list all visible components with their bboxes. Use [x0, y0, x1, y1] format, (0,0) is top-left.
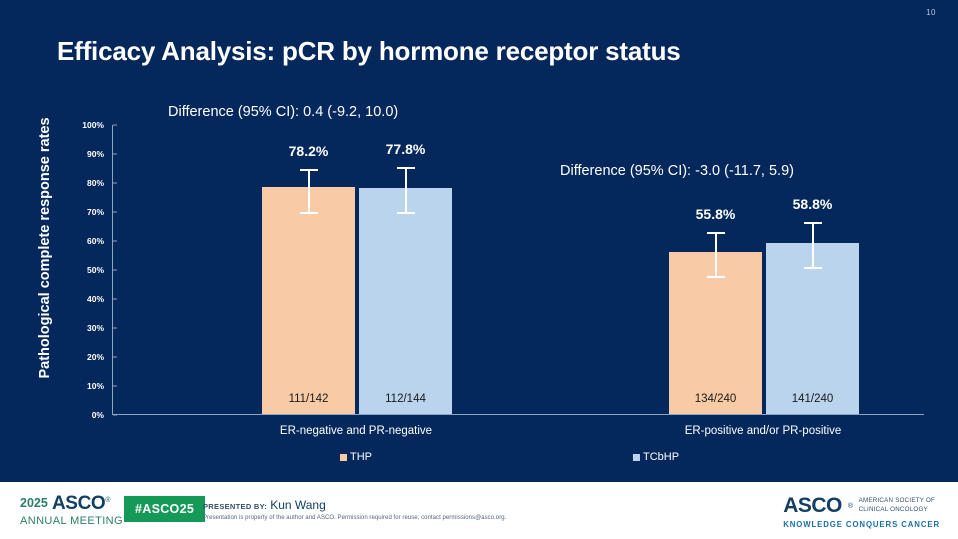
legend-item-thp[interactable]: THP: [340, 451, 372, 463]
y-axis-tick-mark: [113, 241, 117, 242]
y-axis-tick-mark: [113, 299, 117, 300]
bar-denominator-label: 134/240: [669, 393, 762, 405]
y-axis-tick-label: 50%: [54, 265, 113, 275]
error-bar: [308, 169, 310, 213]
legend-label: THP: [350, 451, 372, 463]
meeting-year: 2025: [20, 496, 48, 510]
bar-chart: Pathological complete response rates 0%1…: [0, 95, 958, 480]
y-axis-tick-label: 100%: [54, 120, 113, 130]
error-bar-cap-lower: [707, 276, 725, 278]
bar-value-label: 78.2%: [289, 143, 329, 159]
y-axis-tick-mark: [113, 212, 117, 213]
category-label-1: ER-negative and PR-negative: [280, 425, 432, 437]
y-axis-tick-mark: [113, 154, 117, 155]
hashtag-badge: #ASCO25: [124, 496, 205, 522]
bar-tcbhp-group1[interactable]: 112/144: [359, 188, 452, 414]
y-axis-tick-label: 60%: [54, 236, 113, 246]
legend-swatch-tcbhp: [633, 454, 640, 461]
y-axis-tick-label: 80%: [54, 178, 113, 188]
legend-swatch-thp: [340, 454, 347, 461]
slide-number: 10: [926, 8, 936, 17]
error-bar: [715, 232, 717, 276]
page-title: Efficacy Analysis: pCR by hormone recept…: [57, 36, 681, 67]
y-axis-tick-label: 20%: [54, 352, 113, 362]
y-axis-tick-label: 70%: [54, 207, 113, 217]
category-label-2: ER-positive and/or PR-positive: [685, 425, 842, 437]
y-axis-tick-mark: [113, 415, 117, 416]
asco-right-wordmark: ASCO: [783, 494, 842, 518]
y-axis-title: Pathological complete response rates: [37, 83, 53, 413]
presented-by-label: PRESENTED BY:: [203, 502, 267, 511]
error-bar-cap-lower: [300, 212, 318, 214]
legend-item-tcbhp[interactable]: TCbHP: [633, 451, 679, 463]
error-bar: [812, 222, 814, 267]
y-axis-tick-mark: [113, 183, 117, 184]
y-axis-tick-mark: [113, 357, 117, 358]
copyright-fineprint: Presentation is property of the author a…: [203, 515, 506, 521]
error-bar-cap-upper: [804, 222, 822, 224]
bar-value-label: 58.8%: [793, 196, 833, 212]
y-axis-tick-mark: [113, 328, 117, 329]
society-line-1: AMERICAN SOCIETY OF: [859, 497, 936, 504]
bar-value-label: 55.8%: [696, 206, 736, 222]
y-axis-tick-label: 90%: [54, 149, 113, 159]
error-bar-cap-lower: [804, 267, 822, 269]
legend-label: TCbHP: [643, 451, 679, 463]
bar-denominator-label: 141/240: [766, 393, 859, 405]
plot-area: 0%10%20%30%40%50%60%70%80%90%100%111/142…: [112, 125, 924, 415]
y-axis-tick-mark: [113, 125, 117, 126]
y-axis-tick-label: 30%: [54, 323, 113, 333]
bar-value-label: 77.8%: [386, 141, 426, 157]
error-bar-cap-upper: [707, 232, 725, 234]
error-bar-cap-lower: [397, 212, 415, 214]
registered-mark-right: ®: [848, 503, 853, 510]
y-axis-tick-label: 40%: [54, 294, 113, 304]
asco-tagline: KNOWLEDGE CONQUERS CANCER: [783, 520, 940, 529]
presented-by: PRESENTED BY:Kun Wang: [203, 496, 326, 514]
asco-annual-meeting-logo: 2025 ASCO® ANNUAL MEETING: [20, 494, 123, 527]
slide: 10 Efficacy Analysis: pCR by hormone rec…: [0, 0, 958, 539]
registered-mark: ®: [105, 497, 110, 504]
bar-thp-group1[interactable]: 111/142: [262, 187, 355, 414]
meeting-subtitle: ANNUAL MEETING: [20, 516, 123, 527]
error-bar-cap-upper: [300, 169, 318, 171]
y-axis-tick-label: 0%: [54, 410, 113, 420]
difference-annotation-1: Difference (95% CI): 0.4 (-9.2, 10.0): [168, 104, 398, 120]
presenter-name: Kun Wang: [270, 498, 326, 512]
y-axis-tick-mark: [113, 386, 117, 387]
asco-society-name: AMERICAN SOCIETY OF CLINICAL ONCOLOGY: [859, 497, 936, 515]
asco-logo: ASCO® AMERICAN SOCIETY OF CLINICAL ONCOL…: [783, 494, 940, 529]
y-axis-tick-label: 10%: [54, 381, 113, 391]
bar-denominator-label: 112/144: [359, 393, 452, 405]
difference-annotation-2: Difference (95% CI): -3.0 (-11.7, 5.9): [560, 163, 794, 179]
society-line-2: CLINICAL ONCOLOGY: [859, 506, 928, 513]
y-axis-tick-mark: [113, 270, 117, 271]
bar-denominator-label: 111/142: [262, 393, 355, 405]
error-bar: [405, 167, 407, 212]
asco-wordmark: ASCO: [52, 493, 105, 514]
error-bar-cap-upper: [397, 167, 415, 169]
footer: 2025 ASCO® ANNUAL MEETING #ASCO25 PRESEN…: [0, 482, 958, 539]
